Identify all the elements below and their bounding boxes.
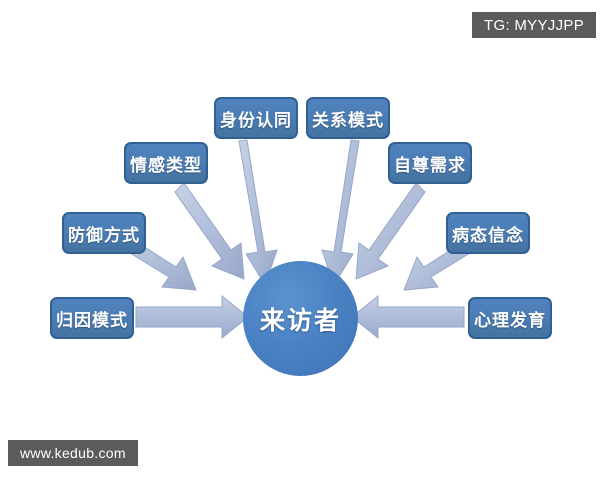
arrow-development [352,296,464,338]
node-identity[interactable]: 身份认同 [214,97,298,139]
site-watermark-badge: www.kedub.com [8,440,138,466]
node-psychological-development[interactable]: 心理发育 [468,297,552,339]
arrow-relationship [322,140,359,285]
arrow-identity [239,140,277,285]
node-defense[interactable]: 防御方式 [62,212,146,254]
diagram-canvas: 来访者 归因模式 防御方式 情感类型 身份认同 关系模式 自尊需求 病态信念 心… [0,0,600,480]
node-self-esteem-need[interactable]: 自尊需求 [388,142,472,184]
telegram-watermark-badge: TG: MYYJJPP [472,12,596,38]
center-node-client[interactable]: 来访者 [243,261,358,376]
node-attribution[interactable]: 归因模式 [50,297,134,339]
arrow-attribution [136,296,248,338]
node-relationship-pattern[interactable]: 关系模式 [306,97,390,139]
node-emotion-type[interactable]: 情感类型 [124,142,208,184]
node-pathological-belief[interactable]: 病态信念 [446,212,530,254]
